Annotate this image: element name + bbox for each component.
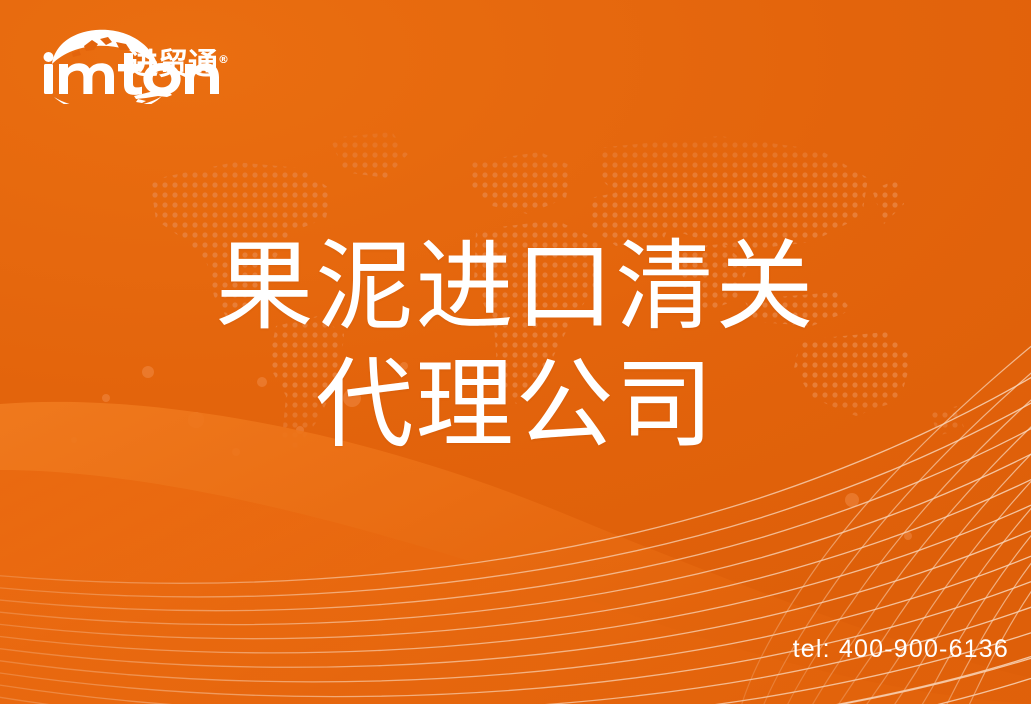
- page-title-line-1: 果泥进口清关: [0, 228, 1031, 346]
- contact-phone-text: tel: 400-900-6136: [793, 635, 1009, 663]
- logo-chinese-text: 进贸通: [128, 47, 218, 82]
- registered-trademark-icon: ®: [218, 53, 229, 66]
- promo-banner: 进贸通® 果泥进口清关 代理公司 tel: 400-900-6136: [0, 0, 1031, 704]
- logo-chinese-mark: 进贸通®: [128, 48, 229, 82]
- page-title: 果泥进口清关 代理公司: [0, 228, 1031, 464]
- page-title-line-2: 代理公司: [0, 346, 1031, 464]
- contact-phone[interactable]: tel: 400-900-6136: [793, 634, 1009, 664]
